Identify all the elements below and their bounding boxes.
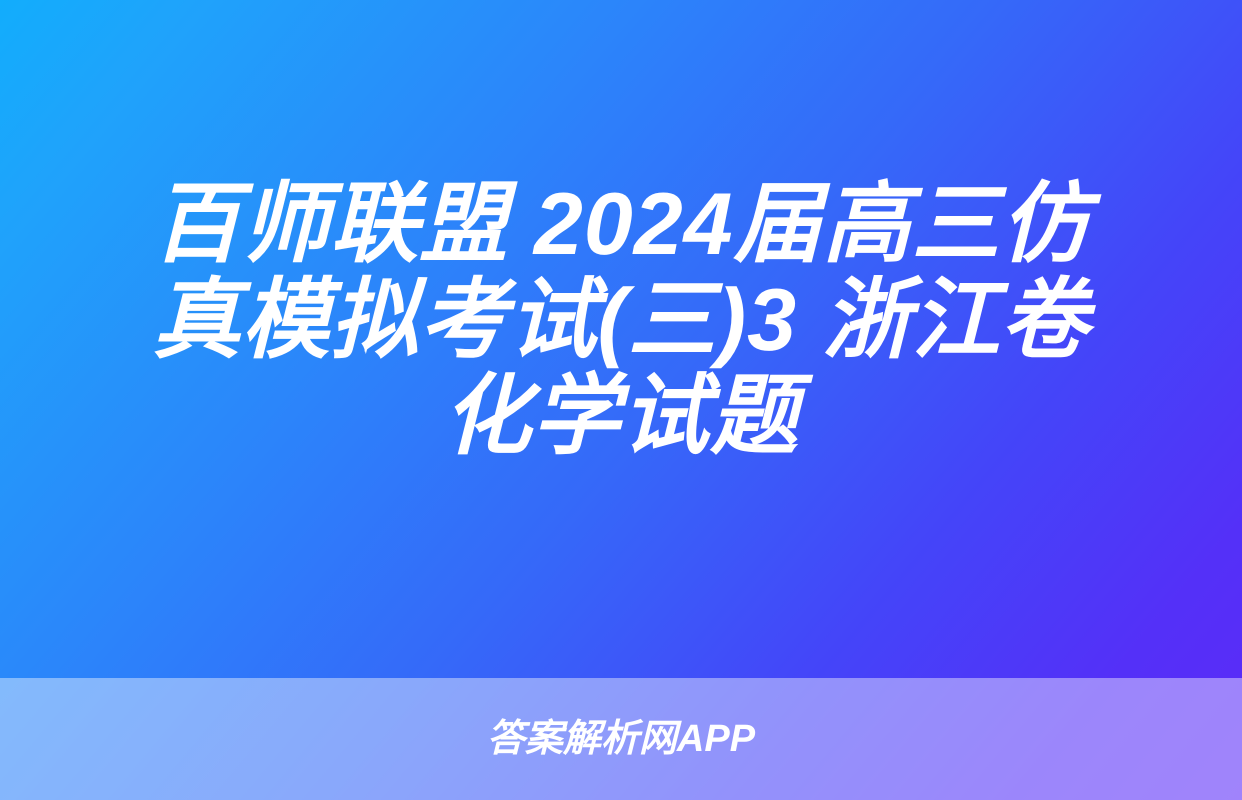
title-line-1: 百师联盟 2024届高三仿 [40,176,1202,272]
poster-canvas: 百师联盟 2024届高三仿 真模拟考试(三)3 浙江卷 化学试题 答案解析网AP… [0,0,1242,800]
watermark-label: 答案解析网APP [487,717,755,761]
page-title: 百师联盟 2024届高三仿 真模拟考试(三)3 浙江卷 化学试题 [0,176,1242,464]
title-line-2: 真模拟考试(三)3 浙江卷 [40,272,1202,368]
footer-band: 答案解析网APP [0,678,1242,800]
title-line-3: 化学试题 [40,368,1202,464]
